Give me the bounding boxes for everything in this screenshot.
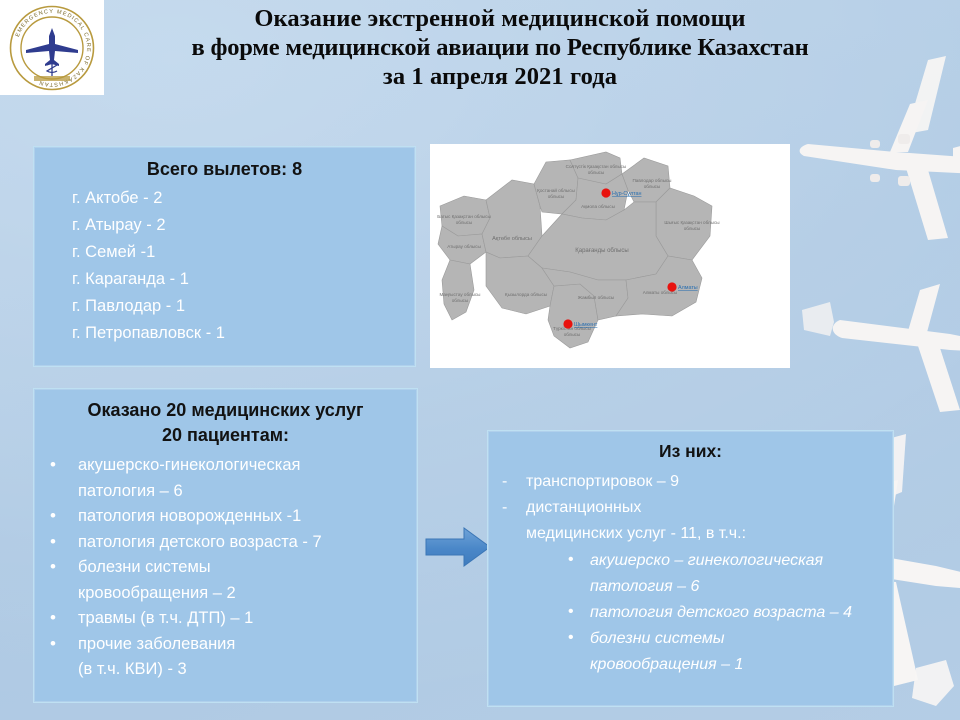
sub-item-line-1: акушерско – гинекологическая — [590, 552, 823, 569]
list-item-line-1: прочие заболевания — [78, 635, 235, 653]
list-item-line-2: (в т.ч. КВИ) - 3 — [78, 657, 417, 683]
page-title: Оказание экстренной медицинской помощи в… — [150, 4, 850, 91]
list-item-line-1: травмы (в т.ч. ДТП) – 1 — [78, 609, 253, 627]
flights-list: г. Актобе - 2 г. Атырау - 2 г. Семей -1 … — [72, 185, 415, 347]
svg-text:облысы: облысы — [452, 298, 469, 303]
region-label: Ақмола облысы — [581, 204, 615, 209]
list-item-line-1: патология новорожденных -1 — [78, 507, 301, 525]
organization-logo: EMERGENCY MEDICAL CARE OF KAZAKHSTAN — [0, 0, 104, 95]
city-marker-nur-sultan — [601, 188, 610, 197]
list-item: г. Караганда - 1 — [72, 266, 415, 293]
svg-text:облысы: облысы — [588, 170, 605, 175]
services-heading: Оказано 20 медицинских услуг 20 пациента… — [34, 398, 417, 448]
flights-heading: Всего вылетов: 8 — [34, 157, 415, 181]
breakdown-heading: Из них: — [488, 439, 893, 463]
list-item: транспортировок – 9 — [488, 469, 893, 495]
right-arrow-icon — [424, 524, 492, 570]
list-item: патология детского возраста - 7 — [42, 530, 417, 556]
list-item: болезни системы кровообращения – 1 — [562, 626, 893, 678]
city-label: Нұр-Сұлтан — [612, 191, 642, 197]
list-item: болезни системы кровообращения – 2 — [42, 555, 417, 606]
list-item: акушерско-гинекологическая патология – 6 — [42, 453, 417, 504]
region-label: Жамбыл облысы — [578, 295, 614, 300]
region-label: Қызылорда облысы — [505, 292, 547, 297]
city-label: Шымкент — [574, 322, 598, 328]
list-item: прочие заболевания (в т.ч. КВИ) - 3 — [42, 632, 417, 683]
list-item: дистанционных медицинских услуг - 11, в … — [488, 495, 893, 678]
svg-text:облысы: облысы — [564, 332, 581, 337]
region-label: Атырау облысы — [447, 244, 481, 249]
region-label: Батыс Қазақстан облысы — [437, 214, 491, 219]
list-item-line-1: патология детского возраста - 7 — [78, 533, 322, 551]
list-item-line-1: акушерско-гинекологическая — [78, 456, 300, 474]
breakdown-panel: Из них: транспортировок – 9 дистанционны… — [487, 430, 894, 707]
list-item-line-1: болезни системы — [78, 558, 211, 576]
list-item: г. Семей -1 — [72, 239, 415, 266]
region-label: Маңғыстау облысы — [440, 292, 481, 297]
title-line-3: за 1 апреля 2021 года — [150, 62, 850, 91]
region-label: Солтүстік Қазақстан облысы — [566, 164, 627, 169]
title-line-1: Оказание экстренной медицинской помощи — [150, 4, 850, 33]
list-item: акушерско – гинекологическая патология –… — [562, 548, 893, 600]
svg-text:облысы: облысы — [456, 220, 473, 225]
city-label: Алматы — [678, 285, 698, 291]
list-item: г. Атырау - 2 — [72, 212, 415, 239]
list-item: патология детского возраста – 4 — [562, 600, 893, 626]
list-item: травмы (в т.ч. ДТП) – 1 — [42, 606, 417, 632]
region-label: Павлодар облысы — [632, 178, 671, 183]
list-item-line-1: дистанционных — [526, 499, 641, 516]
header: EMERGENCY MEDICAL CARE OF KAZAKHSTAN Ока… — [0, 0, 960, 112]
city-marker-almaty — [667, 282, 676, 291]
breakdown-sub-list: акушерско – гинекологическая патология –… — [562, 548, 893, 678]
sub-item-line-1: патология детского возраста – 4 — [590, 604, 852, 621]
region-label: Қарағанды облысы — [575, 248, 628, 254]
list-item-line-2: кровообращения – 2 — [78, 581, 417, 607]
services-panel: Оказано 20 медицинских услуг 20 пациента… — [33, 388, 418, 703]
list-item-line-2: медицинских услуг - 11, в т.ч.: — [526, 521, 893, 547]
services-heading-line-2: 20 пациентам: — [34, 423, 417, 448]
svg-text:облысы: облысы — [644, 184, 661, 189]
sub-item-line-1: болезни системы — [590, 630, 725, 647]
region-label: Ақтөбе облысы — [492, 236, 532, 242]
svg-text:облысы: облысы — [548, 194, 565, 199]
kazakhstan-map-panel: Солтүстік Қазақстан облысы облысы Қостан… — [430, 144, 790, 368]
kazakhstan-map: Солтүстік Қазақстан облысы облысы Қостан… — [430, 144, 790, 368]
list-item: г. Петропавловск - 1 — [72, 320, 415, 347]
sub-item-line-2: патология – 6 — [590, 574, 893, 600]
breakdown-list: транспортировок – 9 дистанционных медици… — [488, 469, 893, 678]
emergency-medical-care-logo-icon: EMERGENCY MEDICAL CARE OF KAZAKHSTAN — [6, 2, 98, 94]
city-marker-shymkent — [563, 319, 572, 328]
model-airplane-middle — [800, 250, 960, 440]
list-item-line-2: патология – 6 — [78, 479, 417, 505]
title-line-2: в форме медицинской авиации по Республик… — [150, 33, 850, 62]
region-label: Шығыс Қазақстан облысы — [664, 220, 719, 225]
svg-text:облысы: облысы — [684, 226, 701, 231]
sub-item-line-2: кровообращения – 1 — [590, 652, 893, 678]
list-item: г. Актобе - 2 — [72, 185, 415, 212]
flights-panel: Всего вылетов: 8 г. Актобе - 2 г. Атырау… — [33, 146, 416, 367]
list-item: патология новорожденных -1 — [42, 504, 417, 530]
region-label: Қостанай облысы — [537, 187, 575, 193]
list-item: г. Павлодар - 1 — [72, 293, 415, 320]
services-list: акушерско-гинекологическая патология – 6… — [42, 453, 417, 683]
list-item-line-1: транспортировок – 9 — [526, 473, 679, 490]
services-heading-line-1: Оказано 20 медицинских услуг — [34, 398, 417, 423]
